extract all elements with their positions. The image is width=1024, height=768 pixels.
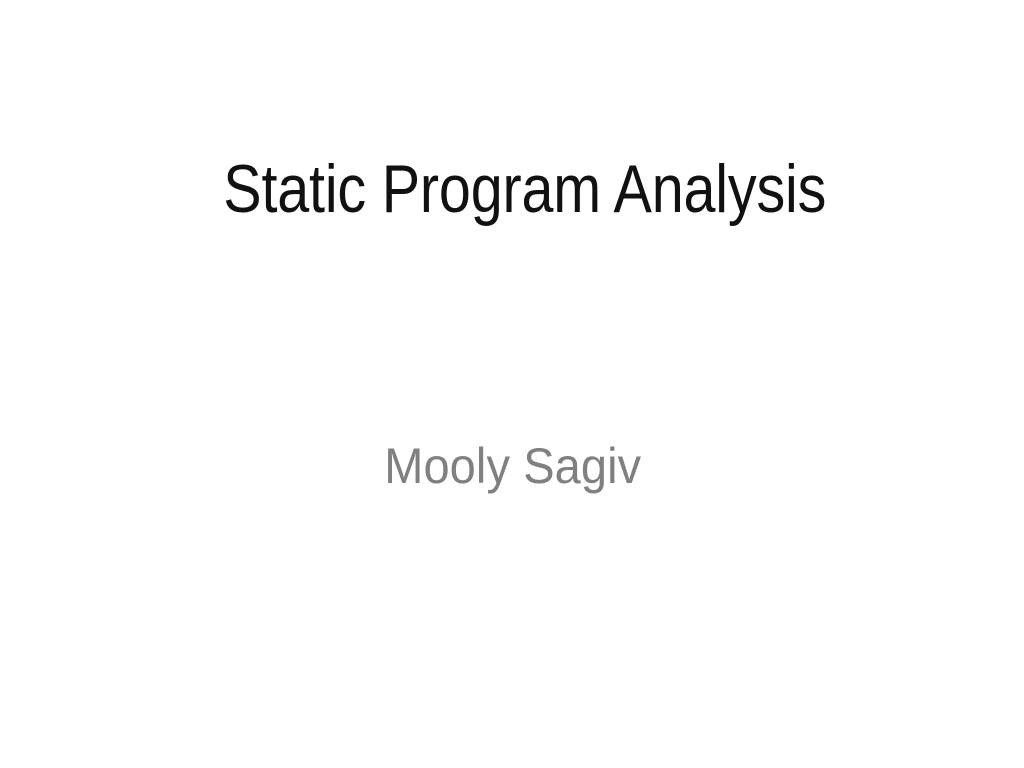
subtitle-placeholder[interactable]: Mooly Sagiv [154, 437, 871, 527]
title-slide: Static Program Analysis Mooly Sagiv [0, 0, 1024, 768]
title-placeholder[interactable]: Static Program Analysis [77, 150, 973, 270]
page-title: Static Program Analysis [224, 150, 827, 229]
slide-subtitle: Mooly Sagiv [384, 437, 641, 496]
